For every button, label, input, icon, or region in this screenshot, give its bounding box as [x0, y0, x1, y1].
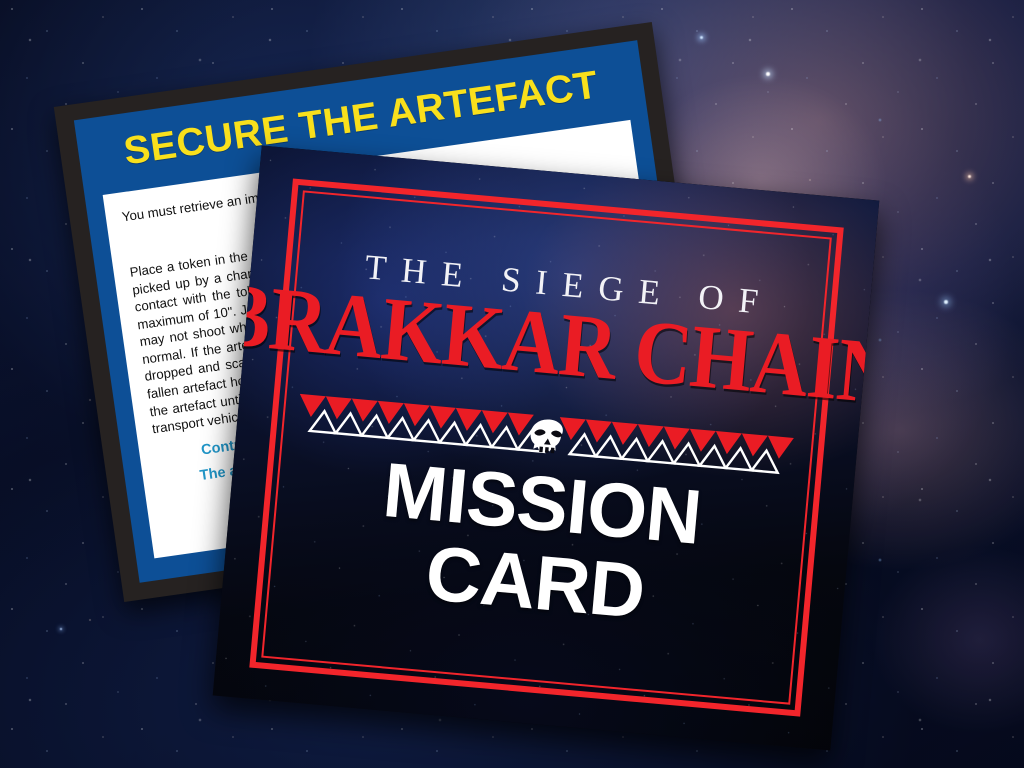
scene-root: SECURE THE ARTEFACT You must retrieve an… — [0, 0, 1024, 768]
bright-star — [766, 72, 770, 76]
card-word-card: CARD — [423, 535, 647, 631]
bright-star — [968, 175, 971, 178]
card-black-border: THE SIEGE OF BRAKKAR CHAIN — [213, 146, 880, 751]
bright-star — [700, 36, 703, 39]
card-title-block: THE SIEGE OF BRAKKAR CHAIN — [277, 207, 816, 690]
bright-star — [60, 628, 62, 630]
bright-star — [944, 300, 948, 304]
mission-card-front[interactable]: THE SIEGE OF BRAKKAR CHAIN — [213, 146, 880, 751]
